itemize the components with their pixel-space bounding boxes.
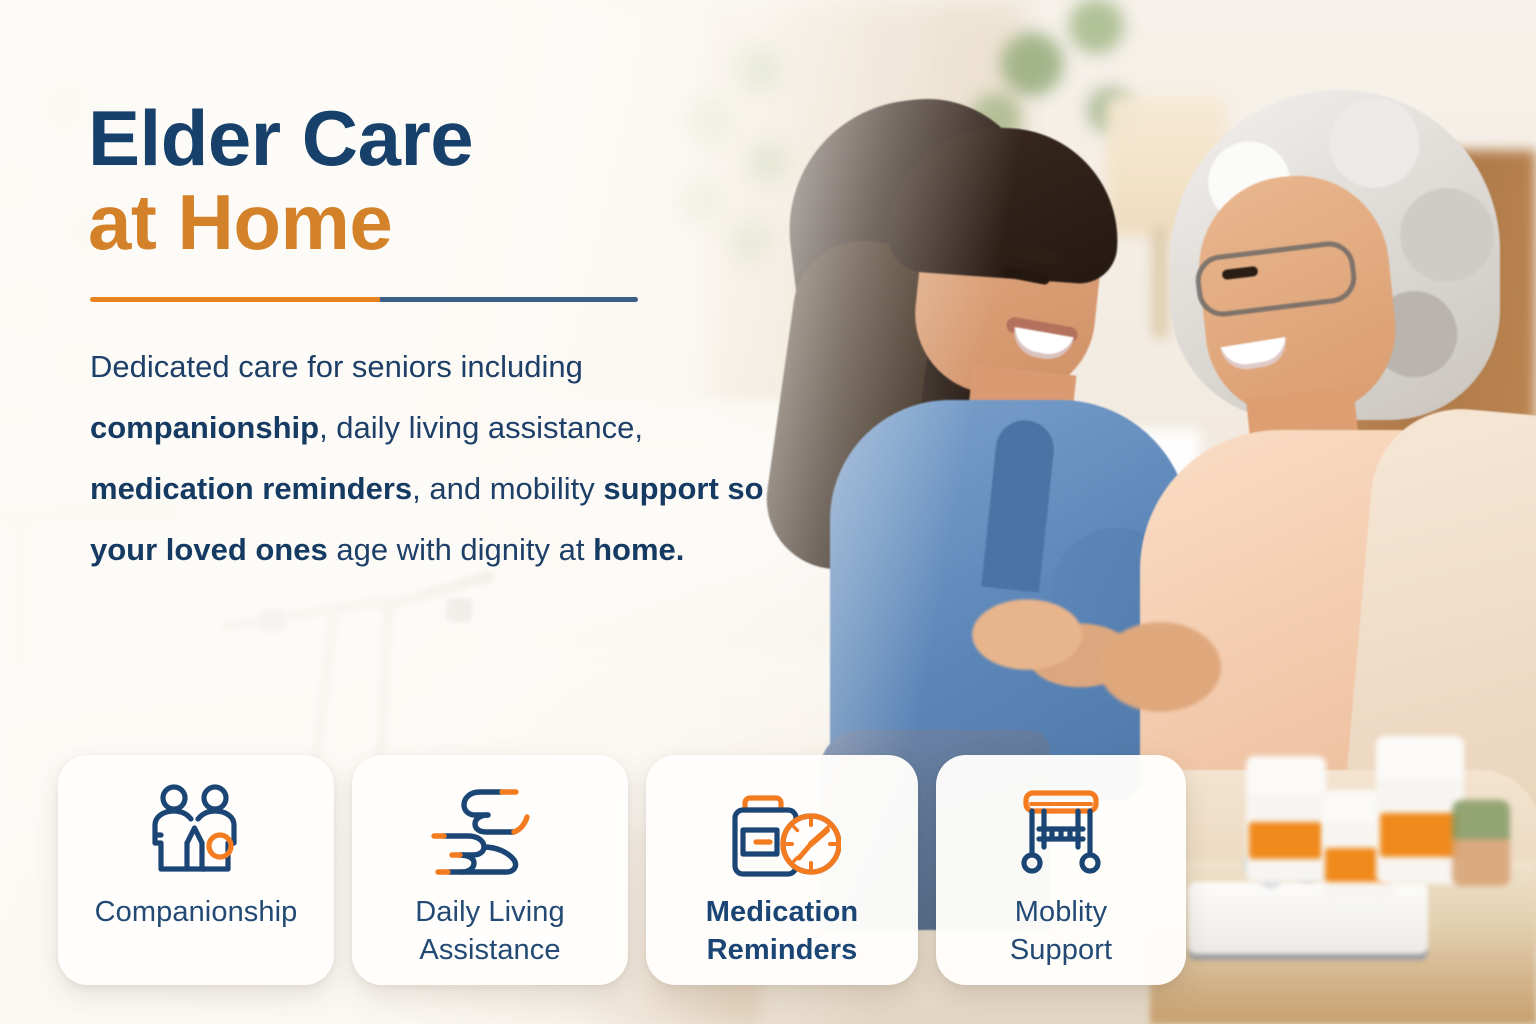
two-people-icon bbox=[144, 779, 248, 887]
card-label-line-1: Daily Living bbox=[415, 896, 565, 928]
card-label-line-1: Companionship bbox=[95, 896, 298, 928]
card-label-line-2: Reminders bbox=[707, 934, 858, 966]
lede-bold-support: support bbox=[603, 471, 718, 506]
feature-card-medication[interactable]: Medication Reminders bbox=[646, 755, 918, 985]
lede-bold-medication: medication reminders bbox=[90, 471, 412, 506]
lede-bold-home: home. bbox=[593, 532, 684, 567]
divider-orange-segment bbox=[90, 297, 380, 302]
feature-card-list: Companionship bbox=[58, 755, 1186, 985]
walker-icon bbox=[1009, 779, 1113, 887]
feature-card-label: Daily Living Assistance bbox=[415, 893, 565, 970]
card-label-line-2: Assistance bbox=[419, 934, 560, 966]
card-label-line-2: Support bbox=[1010, 934, 1112, 966]
feature-card-mobility[interactable]: Moblity Support bbox=[936, 755, 1186, 985]
page-title: Elder Care at Home bbox=[88, 101, 473, 260]
feature-card-label: Moblity Support bbox=[1010, 893, 1112, 970]
title-divider bbox=[90, 297, 638, 302]
lede-part-5: age with dignity at bbox=[328, 532, 593, 567]
feature-card-companionship[interactable]: Companionship bbox=[58, 755, 334, 985]
lede-bold-companionship: companionship bbox=[90, 410, 319, 445]
hero-paragraph: Dedicated care for seniors including com… bbox=[90, 336, 800, 580]
lede-part-2: , daily living assistance, bbox=[319, 410, 643, 445]
helping-hands-icon bbox=[430, 779, 550, 887]
divider-navy-segment bbox=[380, 297, 638, 302]
feature-card-label: Companionship bbox=[95, 893, 298, 931]
lede-part-3: , and mobility bbox=[412, 471, 603, 506]
pill-bottle-clock-icon bbox=[723, 779, 841, 887]
hero-banner: Elder Care at Home Dedicated care for se… bbox=[0, 0, 1536, 1024]
feature-card-daily-living[interactable]: Daily Living Assistance bbox=[352, 755, 628, 985]
feature-card-label: Medication Reminders bbox=[706, 893, 858, 970]
card-label-line-1: Medication bbox=[706, 896, 858, 928]
lede-part-1: Dedicated care for seniors including bbox=[90, 349, 583, 384]
card-label-line-1: Moblity bbox=[1015, 896, 1108, 928]
title-line-2: at Home bbox=[88, 185, 473, 260]
title-line-1: Elder Care bbox=[88, 94, 473, 182]
